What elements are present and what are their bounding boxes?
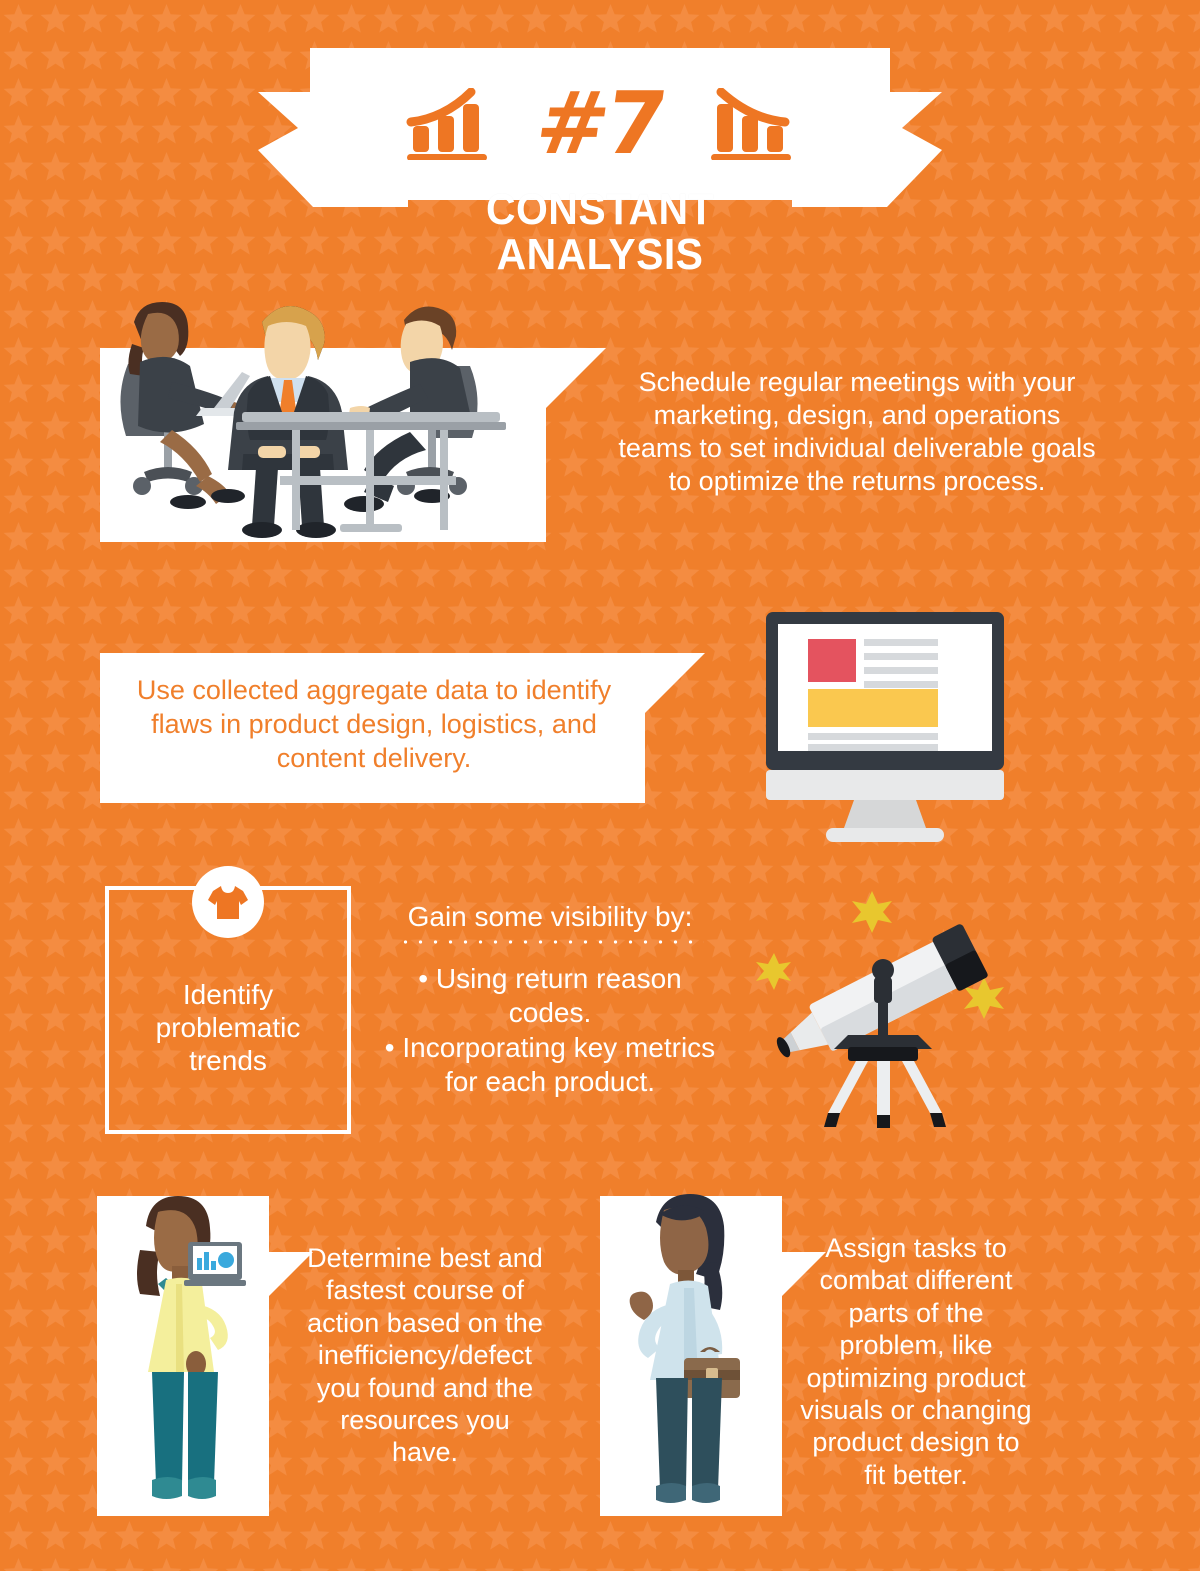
visibility-heading: Gain some visibility by:: [380, 900, 720, 934]
identify-trends-label: Identify problematic trends: [125, 978, 331, 1077]
meeting-card-notch: [546, 348, 606, 408]
tshirt-icon: [207, 882, 249, 922]
bullet-dot: •: [385, 1031, 395, 1065]
infographic-canvas: #7 CONSTANT ANALYSIS: [0, 0, 1200, 1571]
aggregate-data-card-notch: [645, 653, 705, 713]
woman-with-briefcase-illustration: [622, 1192, 762, 1512]
course-of-action-text: Determine best and fastest course of act…: [306, 1242, 544, 1469]
list-item: • Using return reason codes.: [380, 962, 720, 1029]
bullet-dot: •: [418, 962, 428, 996]
bar-chart-rising-icon: [405, 88, 491, 160]
assign-tasks-text: Assign tasks to combat different parts o…: [800, 1232, 1032, 1491]
desktop-monitor-illustration: [760, 612, 1010, 847]
telescope-illustration: [752, 885, 1020, 1130]
aggregate-data-text: Use collected aggregate data to identify…: [124, 674, 624, 775]
step-number: #7: [531, 81, 669, 167]
page-title-line2: ANALYSIS: [42, 233, 1158, 278]
business-meeting-illustration: [110, 300, 540, 544]
tshirt-icon-circle: [192, 866, 264, 938]
visibility-divider: [398, 940, 704, 944]
list-item: • Incorporating key metrics for each pro…: [380, 1031, 720, 1098]
ribbon-band: #7: [310, 48, 890, 200]
page-title: CONSTANT ANALYSIS: [0, 188, 1200, 278]
page-title-line1: CONSTANT: [42, 188, 1158, 233]
meeting-text: Schedule regular meetings with your mark…: [614, 366, 1100, 498]
list-item-label: Using return reason codes.: [436, 963, 682, 1028]
woman-with-tablet-illustration: [126, 1192, 256, 1512]
visibility-bullets: • Using return reason codes. • Incorpora…: [380, 962, 720, 1098]
list-item-label: Incorporating key metrics for each produ…: [402, 1032, 715, 1097]
bar-chart-falling-icon: [709, 88, 795, 160]
